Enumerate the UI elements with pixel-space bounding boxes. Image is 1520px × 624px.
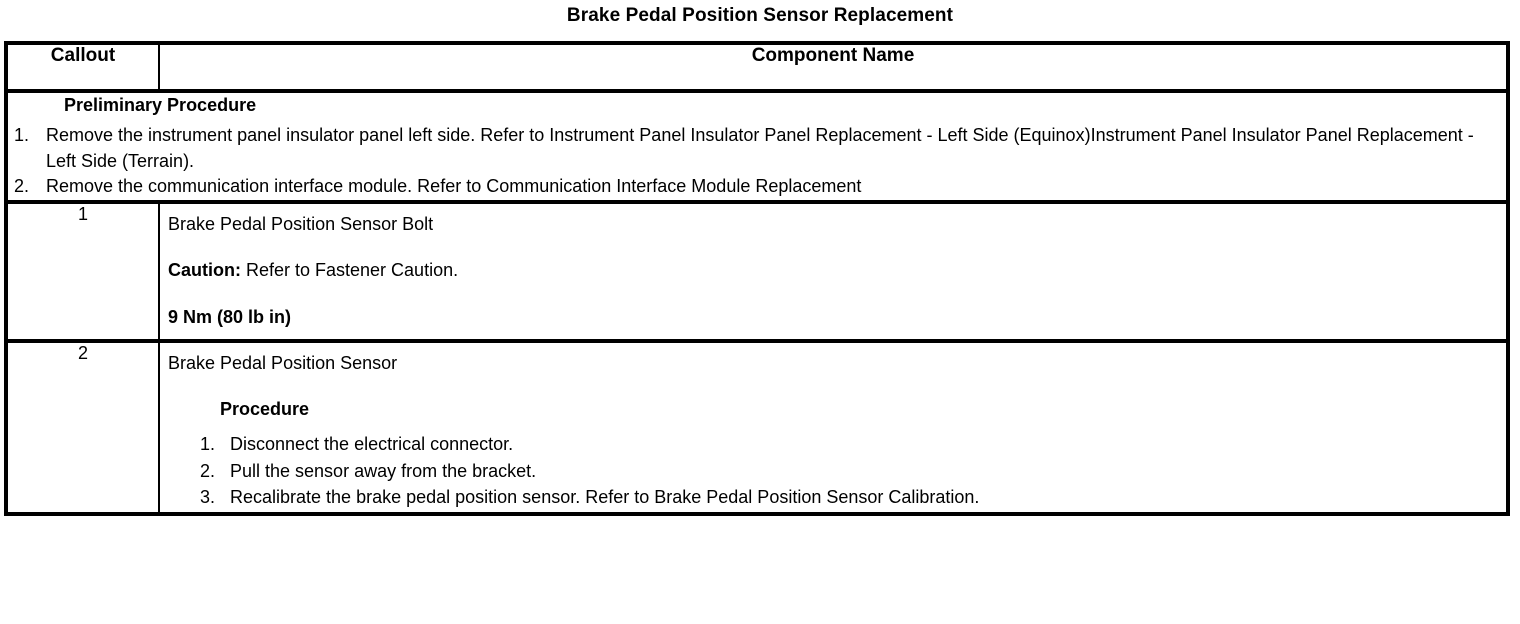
component-description-cell: Brake Pedal Position Sensor Bolt Caution… (159, 202, 1508, 341)
preliminary-procedure-list: Remove the instrument panel insulator pa… (8, 123, 1506, 200)
preliminary-procedure-cell: Preliminary Procedure Remove the instrum… (6, 91, 1508, 202)
callout-number: 2 (6, 341, 159, 514)
caution-label: Caution: (168, 260, 241, 280)
list-item: Remove the instrument panel insulator pa… (34, 123, 1506, 174)
list-item: Recalibrate the brake pedal position sen… (220, 484, 1498, 510)
caution-note: Caution: Refer to Fastener Caution. (168, 258, 1498, 282)
callout-number: 1 (6, 202, 159, 341)
list-item: Remove the communication interface modul… (34, 174, 1506, 200)
component-description-cell: Brake Pedal Position Sensor Procedure Di… (159, 341, 1508, 514)
component-name-text: Brake Pedal Position Sensor (168, 351, 1498, 375)
procedure-heading: Procedure (220, 397, 1498, 421)
preliminary-procedure-heading: Preliminary Procedure (64, 93, 1506, 117)
column-header-component-name: Component Name (159, 43, 1508, 91)
list-item: Disconnect the electrical connector. (220, 431, 1498, 457)
table-row: 2 Brake Pedal Position Sensor Procedure … (6, 341, 1508, 514)
document-page: Brake Pedal Position Sensor Replacement … (0, 0, 1520, 624)
preliminary-procedure-row: Preliminary Procedure Remove the instrum… (6, 91, 1508, 202)
procedure-table: Callout Component Name Preliminary Proce… (4, 41, 1510, 516)
list-item: Pull the sensor away from the bracket. (220, 458, 1498, 484)
caution-text: Refer to Fastener Caution. (241, 260, 458, 280)
procedure-step-list: Disconnect the electrical connector. Pul… (168, 431, 1498, 509)
page-title: Brake Pedal Position Sensor Replacement (0, 0, 1520, 25)
column-header-callout: Callout (6, 43, 159, 91)
torque-spec: 9 Nm (80 lb in) (168, 305, 1498, 329)
table-row: 1 Brake Pedal Position Sensor Bolt Cauti… (6, 202, 1508, 341)
table-header-row: Callout Component Name (6, 43, 1508, 91)
component-name-text: Brake Pedal Position Sensor Bolt (168, 212, 1498, 236)
